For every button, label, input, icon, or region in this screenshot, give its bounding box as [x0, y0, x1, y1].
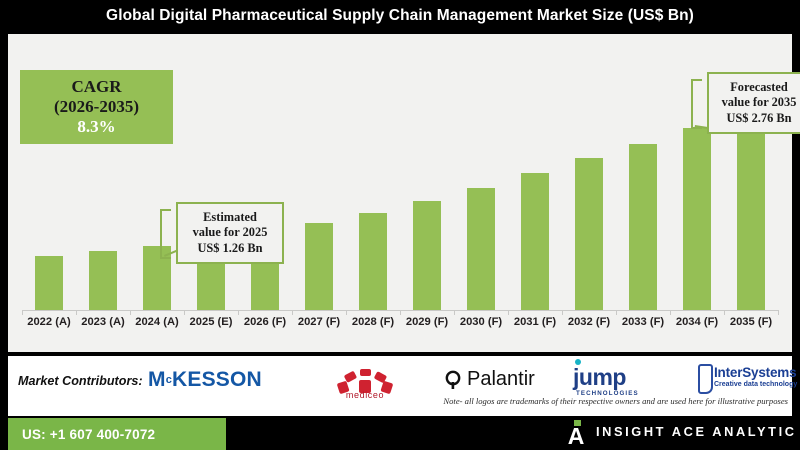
- footer-brand: INSIGHT ACE ANALYTIC: [596, 424, 797, 439]
- x-label-2027F: 2027 (F): [292, 316, 346, 328]
- tick: [724, 310, 725, 315]
- intersystems-logo: InterSystems Creative data technology: [698, 364, 800, 400]
- cagr-label: CAGR: [71, 77, 121, 97]
- x-label-2034F: 2034 (F): [670, 316, 724, 328]
- forecasted-callout-line3: US$ 2.76 Bn: [726, 111, 791, 126]
- forecasted-callout-bracket: [691, 79, 702, 129]
- forecasted-callout: Forecasted value for 2035 US$ 2.76 Bn: [707, 72, 800, 134]
- tick: [292, 310, 293, 315]
- estimated-callout-line1: Estimated: [203, 210, 257, 225]
- x-label-2030F: 2030 (F): [454, 316, 508, 328]
- intersystems-logo-subtext: Creative data technology: [714, 381, 797, 388]
- mckesson-logo: McKESSON: [148, 368, 262, 392]
- bar-2035F: [737, 110, 765, 310]
- title-bar: Global Digital Pharmaceutical Supply Cha…: [0, 0, 800, 32]
- tick: [508, 310, 509, 315]
- x-label-2023A: 2023 (A): [76, 316, 130, 328]
- cagr-box: CAGR (2026-2035) 8.3%: [20, 70, 173, 144]
- bar-2029F: [413, 201, 441, 310]
- tick: [238, 310, 239, 315]
- palantir-logo: Palantir: [443, 368, 535, 391]
- x-label-2024A: 2024 (A): [130, 316, 184, 328]
- bar-2033F: [629, 144, 657, 310]
- logo-disclaimer-note: Note- all logos are trademarks of their …: [8, 396, 792, 412]
- cagr-period: (2026-2035): [54, 97, 139, 117]
- estimated-callout: Estimated value for 2025 US$ 1.26 Bn: [176, 202, 284, 264]
- tick: [670, 310, 671, 315]
- x-label-2035F: 2035 (F): [724, 316, 778, 328]
- x-label-2022A: 2022 (A): [22, 316, 76, 328]
- x-label-2026F: 2026 (F): [238, 316, 292, 328]
- tick: [616, 310, 617, 315]
- intersystems-mark-icon: [698, 364, 713, 394]
- x-label-2031F: 2031 (F): [508, 316, 562, 328]
- x-axis-labels: 2022 (A)2023 (A)2024 (A)2025 (E)2026 (F)…: [8, 316, 792, 340]
- bar-2032F: [575, 158, 603, 310]
- footer-phone-block: US: +1 607 400-7072: [8, 418, 226, 450]
- intersystems-logo-text: InterSystems: [714, 365, 796, 380]
- mckesson-logo-text: M: [148, 368, 166, 392]
- footer-phone: US: +1 607 400-7072: [8, 427, 155, 442]
- x-label-2033F: 2033 (F): [616, 316, 670, 328]
- jump-logo-text: jump: [573, 364, 626, 391]
- bar-2034F: [683, 128, 711, 310]
- bar-2023A: [89, 251, 117, 310]
- tick: [346, 310, 347, 315]
- contributors-label: Market Contributors:: [18, 374, 143, 388]
- infographic-root: Global Digital Pharmaceutical Supply Cha…: [0, 0, 800, 450]
- tick: [76, 310, 77, 315]
- mckesson-logo-rest: KESSON: [172, 368, 262, 392]
- bar-2022A: [35, 256, 63, 310]
- bar-2028F: [359, 213, 387, 311]
- chart-panel: 2022 (A)2023 (A)2024 (A)2025 (E)2026 (F)…: [8, 34, 792, 352]
- tick: [562, 310, 563, 315]
- tick: [400, 310, 401, 315]
- x-label-2025E: 2025 (E): [184, 316, 238, 328]
- forecasted-callout-line2: value for 2035: [722, 95, 797, 110]
- estimated-callout-line2: value for 2025: [193, 225, 268, 240]
- bar-2027F: [305, 223, 333, 310]
- tick: [454, 310, 455, 315]
- x-label-2028F: 2028 (F): [346, 316, 400, 328]
- insightace-logo-icon: A: [565, 420, 587, 448]
- bar-2031F: [521, 173, 549, 310]
- forecasted-callout-line1: Forecasted: [730, 80, 788, 95]
- estimated-callout-line3: US$ 1.26 Bn: [197, 241, 262, 256]
- tick: [22, 310, 23, 315]
- x-label-2032F: 2032 (F): [562, 316, 616, 328]
- page-title: Global Digital Pharmaceutical Supply Cha…: [106, 7, 694, 25]
- footer-bar: US: +1 607 400-7072 A INSIGHT ACE ANALYT…: [0, 418, 800, 450]
- bar-2030F: [467, 188, 495, 310]
- palantir-mark-icon: [443, 369, 463, 391]
- tick: [130, 310, 131, 315]
- cagr-value: 8.3%: [77, 117, 115, 137]
- insightace-logo-letter: A: [565, 425, 587, 448]
- tick: [778, 310, 779, 315]
- palantir-logo-text: Palantir: [467, 368, 535, 391]
- x-label-2029F: 2029 (F): [400, 316, 454, 328]
- tick: [184, 310, 185, 315]
